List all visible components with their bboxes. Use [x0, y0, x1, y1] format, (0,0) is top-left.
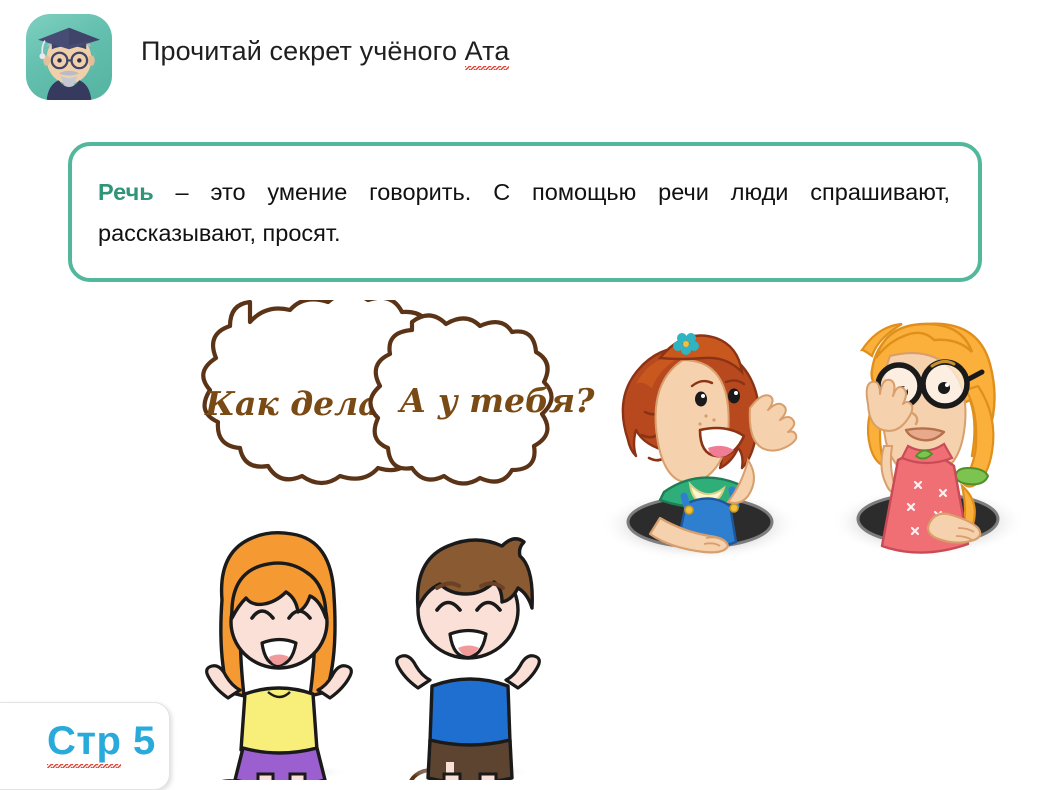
scholar-avatar-icon — [26, 14, 112, 100]
page-number-badge[interactable]: Стр 5 — [0, 702, 170, 790]
definition-text: Речь – это умение говорить. С помощью ре… — [98, 172, 950, 254]
page-number-value: 5 — [133, 719, 156, 763]
thought-bubble-right-text: А у тебя? — [398, 381, 596, 420]
definition-keyword: Речь — [98, 179, 154, 205]
page-number-label: Стр 5 — [47, 719, 156, 764]
slide-header: Прочитай секрет учёного Ата — [0, 0, 1052, 112]
page-title: Прочитай секрет учёного Ата — [141, 36, 509, 67]
definition-callout-box: Речь – это умение говорить. С помощью ре… — [68, 142, 982, 282]
page-number-prefix: Стр — [47, 719, 121, 764]
definition-body: – это умение говорить. С помощью речи лю… — [98, 179, 950, 246]
page-title-misspelled-word: Ата — [465, 36, 510, 67]
page-title-prefix: Прочитай секрет учёного — [141, 36, 465, 66]
boy-brown-hair — [397, 539, 540, 780]
girl-orange-hair — [207, 533, 352, 780]
